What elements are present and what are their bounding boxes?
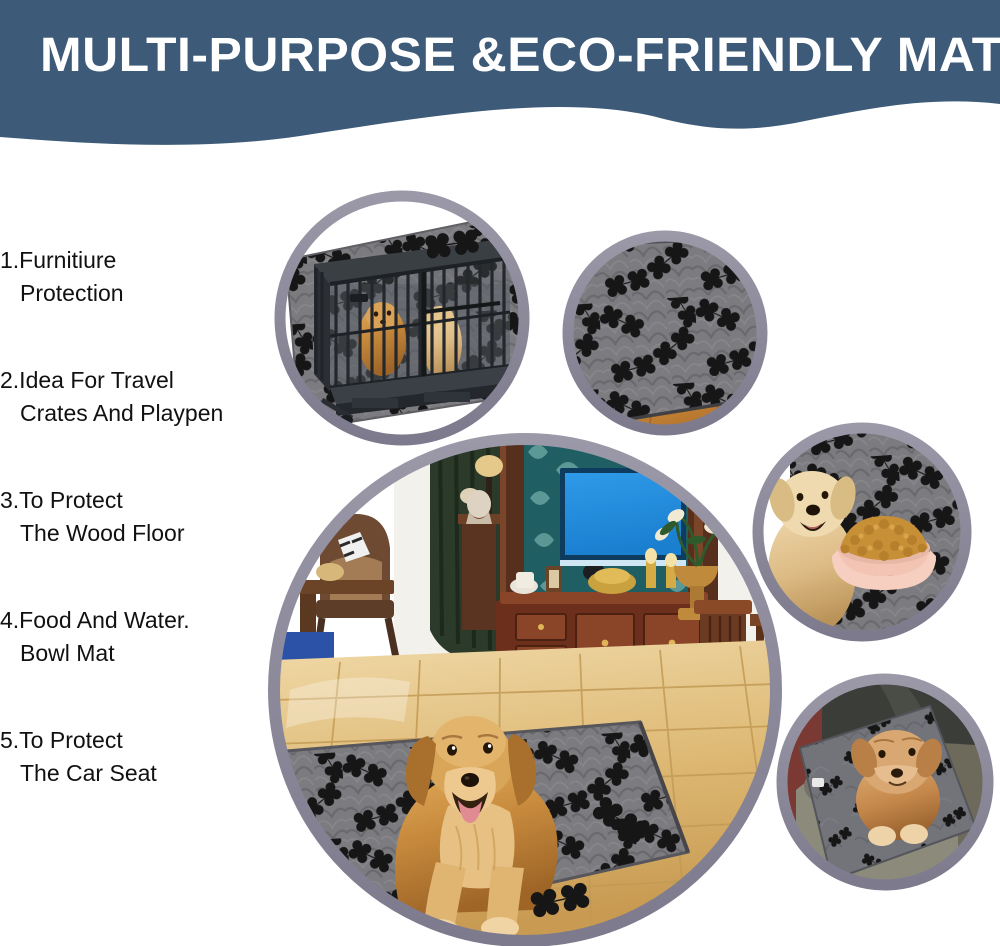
car-seat-photo	[782, 679, 988, 885]
photo-collage	[0, 0, 1000, 946]
dog-crate-photo	[280, 196, 540, 440]
food-bowl-photo	[756, 426, 970, 640]
living-room-photo	[274, 439, 780, 941]
mat-wood-floor-photo	[552, 230, 772, 442]
